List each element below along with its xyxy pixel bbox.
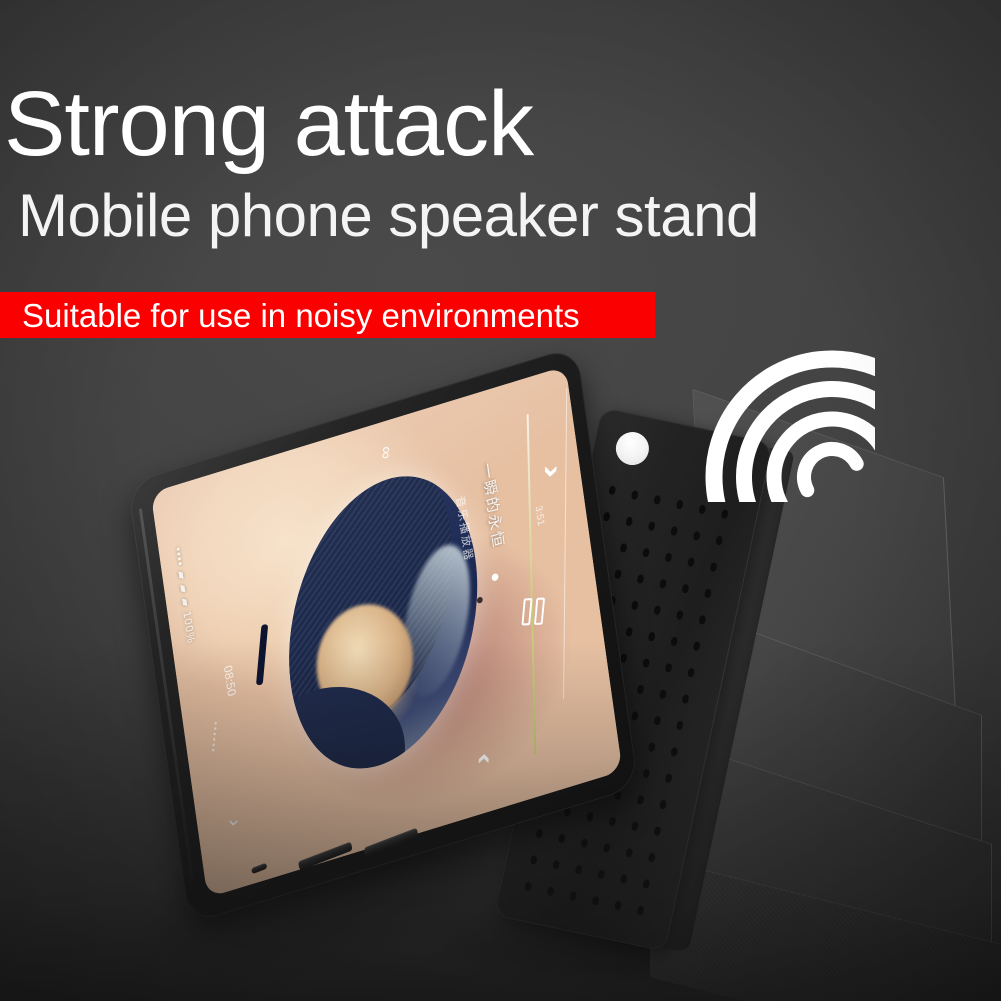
album-art-hair bbox=[266, 470, 474, 735]
stand-fabric-base bbox=[650, 856, 1000, 1001]
album-art-face bbox=[308, 591, 421, 734]
album-art-highlight bbox=[392, 542, 482, 698]
previous-track-icon[interactable]: ‹‹ bbox=[474, 753, 499, 758]
album-art-shoulder bbox=[266, 682, 416, 774]
stand-panel-top bbox=[692, 389, 959, 785]
tagline-text: Suitable for use in noisy environments bbox=[22, 299, 580, 332]
phone-ground-shadow bbox=[128, 731, 621, 1001]
speaker-grille bbox=[516, 475, 741, 919]
chevron-down-icon[interactable]: › bbox=[224, 819, 244, 827]
link-icon[interactable]: ∞ bbox=[378, 446, 396, 459]
lockscreen-clock: 08:50 bbox=[221, 664, 239, 698]
screen-accent-line bbox=[563, 388, 567, 699]
floor-shading bbox=[0, 641, 1001, 1001]
headline-primary: Strong attack bbox=[4, 78, 533, 170]
pause-icon[interactable] bbox=[518, 598, 545, 626]
phone-display[interactable]: •••• ▰ ▰ ▰ 100% 08:50 一瞬的永恒 音乐播放器 3:51 ∞… bbox=[151, 366, 623, 898]
song-title: 一瞬的永恒 bbox=[477, 460, 509, 551]
tagline-banner: Suitable for use in noisy environments bbox=[0, 292, 655, 338]
volume-down-button[interactable] bbox=[364, 828, 419, 857]
earpiece-slot bbox=[256, 624, 268, 685]
folding-stand bbox=[690, 430, 1000, 970]
advertisement-poster: •••• ▰ ▰ ▰ 100% 08:50 一瞬的永恒 音乐播放器 3:51 ∞… bbox=[0, 0, 1001, 1001]
microphone-port bbox=[251, 863, 267, 875]
stand-panel-middle bbox=[680, 605, 982, 897]
speaker-indicator-light-icon bbox=[613, 429, 652, 468]
speaker-front-panel bbox=[494, 407, 773, 952]
speaker-side-face bbox=[663, 448, 795, 952]
speaker-unit bbox=[494, 407, 773, 952]
status-bar: •••• ▰ ▰ ▰ 100% bbox=[171, 545, 197, 645]
next-track-icon[interactable]: ›› bbox=[537, 465, 566, 470]
track-progress-bar[interactable] bbox=[527, 414, 537, 754]
song-artist: 音乐播放器 bbox=[453, 494, 477, 564]
signal-dots-icon: •••••• bbox=[208, 721, 221, 754]
stand-panel-lower bbox=[660, 736, 992, 1001]
playhead-dot[interactable] bbox=[491, 573, 499, 582]
phone-chassis bbox=[127, 346, 638, 925]
sound-wave-icon bbox=[660, 327, 875, 502]
stand-ground-shadow bbox=[430, 880, 990, 990]
track-time-label: 3:51 bbox=[533, 504, 546, 527]
smartphone: •••• ▰ ▰ ▰ 100% 08:50 一瞬的永恒 音乐播放器 3:51 ∞… bbox=[127, 346, 638, 925]
phone-edge-highlight bbox=[139, 508, 194, 880]
screen-glare bbox=[151, 366, 623, 898]
volume-up-button[interactable] bbox=[298, 841, 353, 870]
album-art bbox=[266, 470, 500, 775]
screen-dot bbox=[477, 596, 484, 604]
headline-secondary: Mobile phone speaker stand bbox=[18, 186, 759, 246]
